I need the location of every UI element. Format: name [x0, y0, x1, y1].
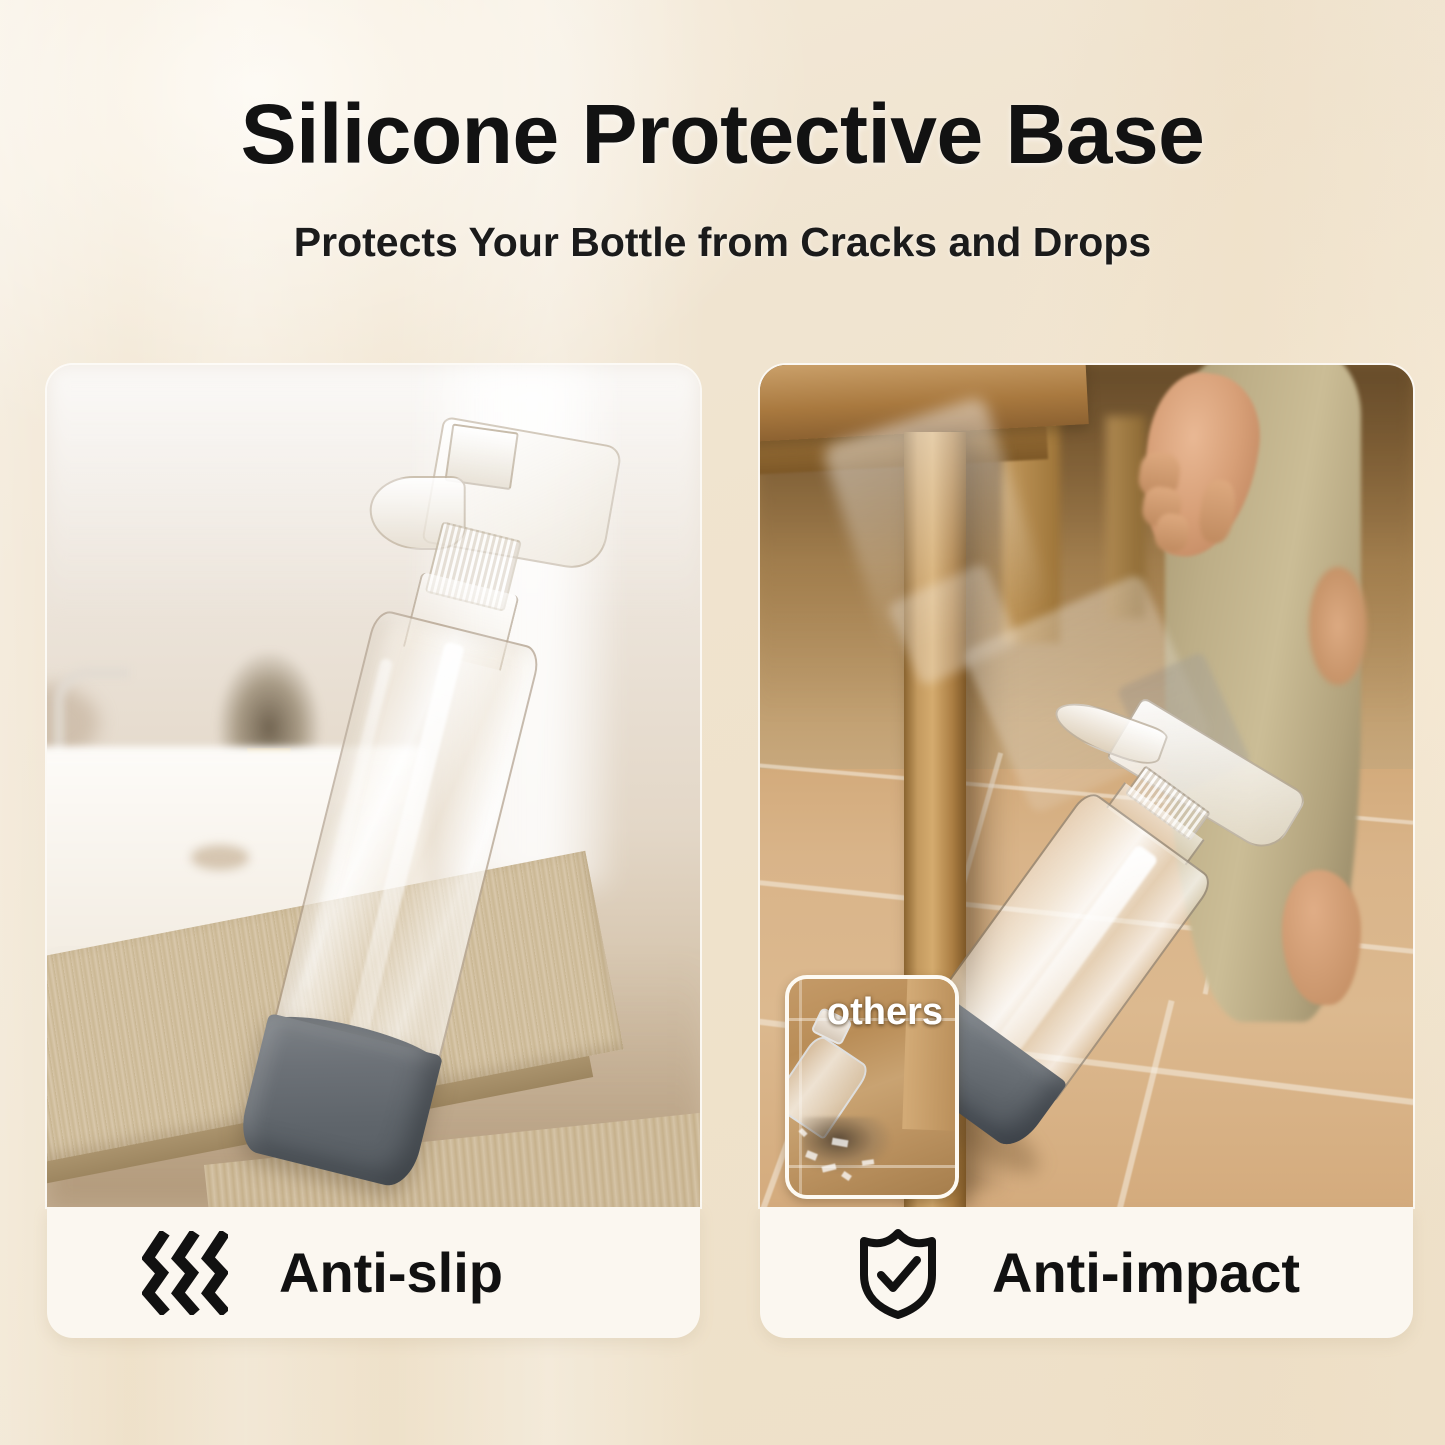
panel-anti-slip: Anti-slip	[47, 365, 700, 1338]
person-ankle	[1309, 567, 1368, 685]
anti-impact-photo: others	[760, 365, 1413, 1207]
page-subtitle: Protects Your Bottle from Cracks and Dro…	[0, 216, 1445, 268]
shield-check-icon	[852, 1229, 944, 1317]
page-title: Silicone Protective Base	[0, 88, 1445, 180]
caption-label-anti-impact: Anti-impact	[992, 1240, 1300, 1305]
caption-anti-slip: Anti-slip	[47, 1207, 700, 1338]
caption-anti-impact: Anti-impact	[760, 1207, 1413, 1338]
caption-label-anti-slip: Anti-slip	[279, 1240, 503, 1305]
others-inset: others	[785, 975, 959, 1199]
anti-slip-photo	[47, 365, 700, 1207]
infographic-root: Silicone Protective Base Protects Your B…	[0, 0, 1445, 1445]
zigzag-wave-icon	[139, 1229, 231, 1317]
others-label: others	[827, 991, 943, 1033]
panel-anti-impact: others Anti-impact	[760, 365, 1413, 1338]
